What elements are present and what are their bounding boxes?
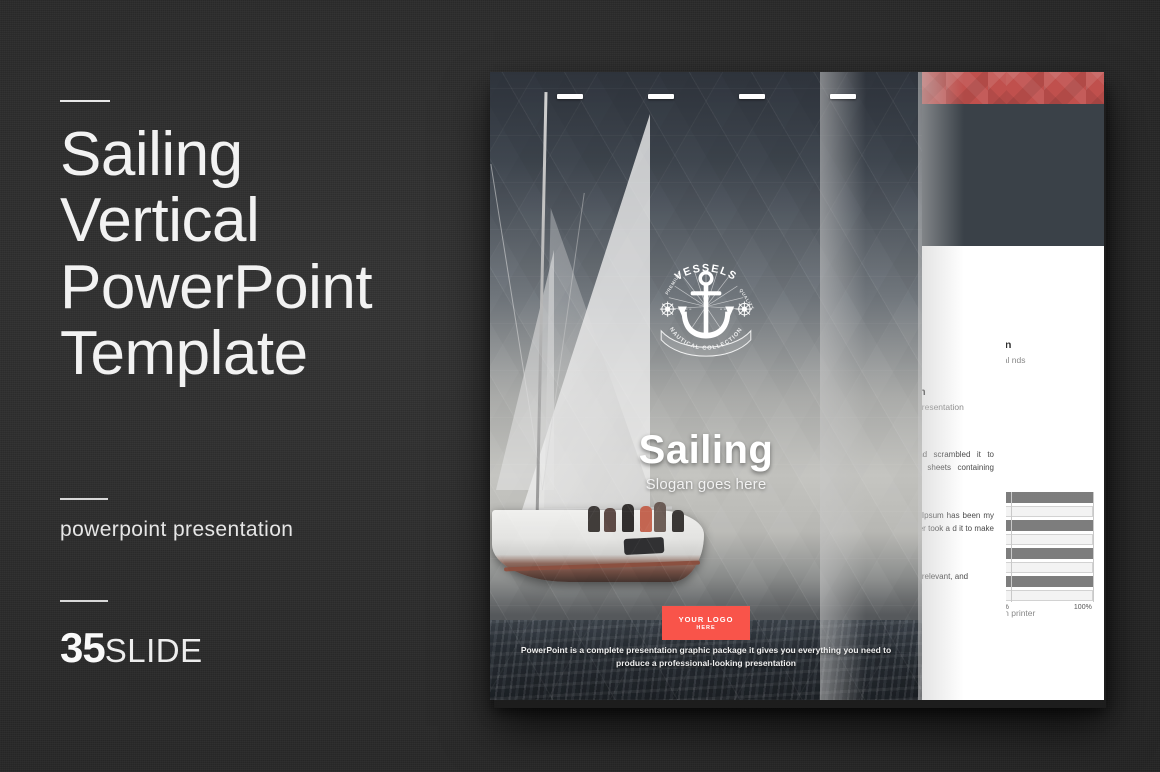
chart-gridline-100 [1093, 492, 1094, 602]
page-title: Sailing Vertical PowerPoint Template [60, 122, 480, 387]
subtitle-divider-rule [60, 498, 108, 500]
binding-notches [490, 94, 922, 99]
binding-notch [648, 94, 674, 99]
binding-notch [830, 94, 856, 99]
ship-wheel-icon [660, 301, 675, 316]
title-line-1: Sailing [60, 122, 480, 188]
slide-count-block: 35 SLIDE [60, 600, 203, 672]
your-logo-placeholder[interactable]: YOUR LOGO HERE [662, 606, 750, 640]
binding-notch [739, 94, 765, 99]
chart-gridline-90 [1011, 492, 1012, 602]
count-divider-rule [60, 600, 108, 602]
slide-count-label: SLIDE [105, 632, 203, 670]
cover-title: Sailing [490, 428, 922, 473]
cover-slogan: Slogan goes here [490, 476, 922, 493]
title-line-2: Vertical [60, 188, 480, 254]
logo-placeholder-line1: YOUR LOGO [679, 615, 734, 624]
promo-text-block: Sailing Vertical PowerPoint Template [60, 100, 480, 387]
promo-subtitle: powerpoint presentation [60, 518, 293, 542]
cover-description: PowerPoint is a complete presentation gr… [520, 644, 892, 670]
vessels-emblem: VESSELS NAUTICAL COLLECTION PREMIUM QUAL… [642, 240, 770, 368]
slide-stack: ity design es and visual p quality desig… [490, 72, 1104, 702]
anchor-icon [678, 273, 734, 339]
emblem-right-text: QUALITY [738, 288, 755, 311]
emblem-left-text: PREMIUM [664, 271, 682, 295]
logo-placeholder-line2: HERE [696, 625, 715, 631]
cover-slide[interactable]: VESSELS NAUTICAL COLLECTION PREMIUM QUAL… [490, 72, 922, 700]
title-line-3: PowerPoint [60, 255, 480, 321]
slide-count-number: 35 [60, 624, 105, 672]
title-line-4: Template [60, 321, 480, 387]
binding-notch [557, 94, 583, 99]
subtitle-block: powerpoint presentation [60, 498, 293, 542]
title-divider-rule [60, 100, 110, 102]
